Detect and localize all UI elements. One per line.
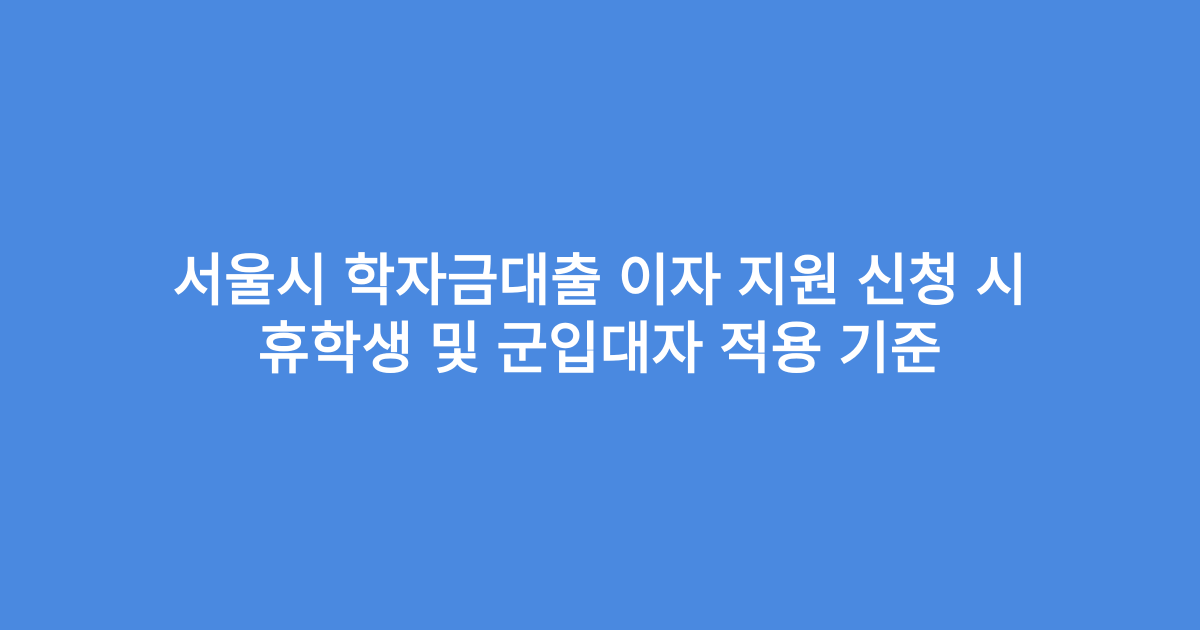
headline-block: 서울시 학자금대출 이자 지원 신청 시 휴학생 및 군입대자 적용 기준	[80, 247, 1120, 383]
og-title-card: 서울시 학자금대출 이자 지원 신청 시 휴학생 및 군입대자 적용 기준	[0, 0, 1200, 630]
page-title: 서울시 학자금대출 이자 지원 신청 시 휴학생 및 군입대자 적용 기준	[90, 247, 1110, 383]
